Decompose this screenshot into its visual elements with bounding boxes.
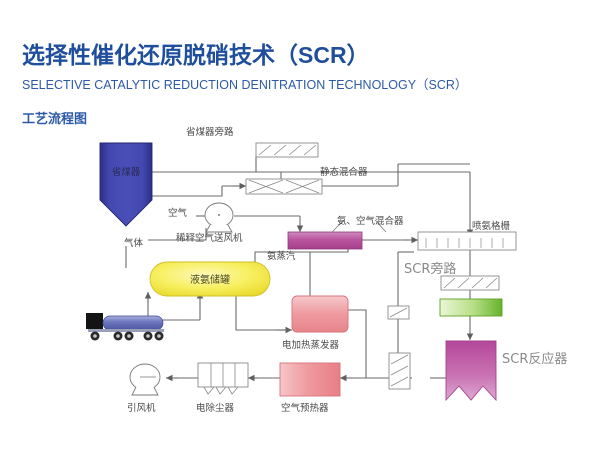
label-dilution-air-fan: 稀释空气送风机 bbox=[176, 230, 243, 244]
economizer-bypass-damper bbox=[256, 143, 318, 157]
economizer-label: 省煤器 bbox=[112, 166, 141, 178]
label-ammonia-injection-grid: 喷氨格栅 bbox=[472, 218, 510, 232]
static-mixer bbox=[246, 179, 322, 194]
liquid-ammonia-tank: 液氨储罐 bbox=[150, 262, 270, 296]
vertical-damper bbox=[389, 353, 410, 389]
label-scr-bypass: SCR旁路 bbox=[404, 258, 456, 277]
induced-draft-fan bbox=[130, 364, 160, 395]
economizer: 省煤器 bbox=[100, 143, 152, 226]
catalyst-layer bbox=[440, 299, 502, 316]
label-ammonia-air-mixer: 氨、空气混合器 bbox=[337, 213, 404, 227]
line-evap-right bbox=[348, 310, 366, 378]
ammonia-injection-grid bbox=[418, 232, 516, 250]
label-induced-draft-fan: 引风机 bbox=[127, 400, 156, 414]
liquid-ammonia-tank-label: 液氨储罐 bbox=[190, 273, 230, 286]
label-electrostatic-precipitator: 电除尘器 bbox=[196, 400, 234, 414]
label-electric-heating-evaporator: 电加热蒸发器 bbox=[282, 337, 339, 351]
line-tank-to-evap bbox=[236, 296, 290, 330]
label-air-preheater: 空气预热器 bbox=[281, 400, 329, 414]
dilution-air-fan bbox=[205, 203, 233, 232]
scr-bypass-damper bbox=[441, 276, 499, 290]
ammonia-air-mixer bbox=[288, 232, 362, 249]
tanker-truck bbox=[86, 313, 164, 341]
scr-reactor bbox=[446, 341, 496, 400]
label-economizer-bypass: 省煤器旁路 bbox=[186, 124, 234, 138]
label-air: 空气 bbox=[168, 205, 187, 219]
label-gas: 气体 bbox=[124, 235, 143, 249]
small-damper-upper bbox=[388, 306, 409, 319]
label-scr-reactor: SCR反应器 bbox=[502, 348, 567, 367]
air-preheater bbox=[280, 363, 340, 396]
electric-heating-evaporator bbox=[292, 296, 348, 332]
label-ammonia-vapor: 氨蒸汽 bbox=[267, 248, 296, 262]
label-static-mixer: 静态混合器 bbox=[320, 164, 368, 178]
electrostatic-precipitator bbox=[198, 363, 248, 394]
line-econ-out bbox=[152, 186, 222, 196]
